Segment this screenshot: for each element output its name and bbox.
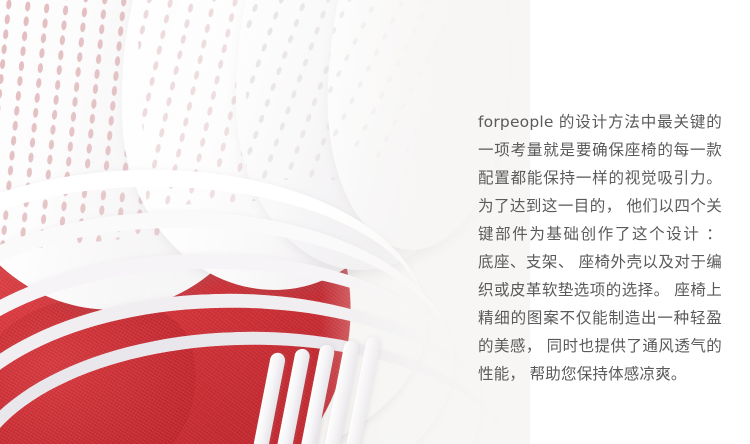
description-body: 的设计方法中最关键的一项考量就是要确保座椅的每一款配置都能保持一样的视觉吸引力。… [478, 114, 727, 383]
brand-name: forpeople [478, 113, 554, 131]
product-description: forpeople 的设计方法中最关键的一项考量就是要确保座椅的每一款配置都能保… [478, 108, 722, 389]
product-photo [0, 0, 530, 444]
product-detail-page: forpeople 的设计方法中最关键的一项考量就是要确保座椅的每一款配置都能保… [0, 0, 750, 444]
description-panel: forpeople 的设计方法中最关键的一项考量就是要确保座椅的每一款配置都能保… [530, 0, 750, 444]
